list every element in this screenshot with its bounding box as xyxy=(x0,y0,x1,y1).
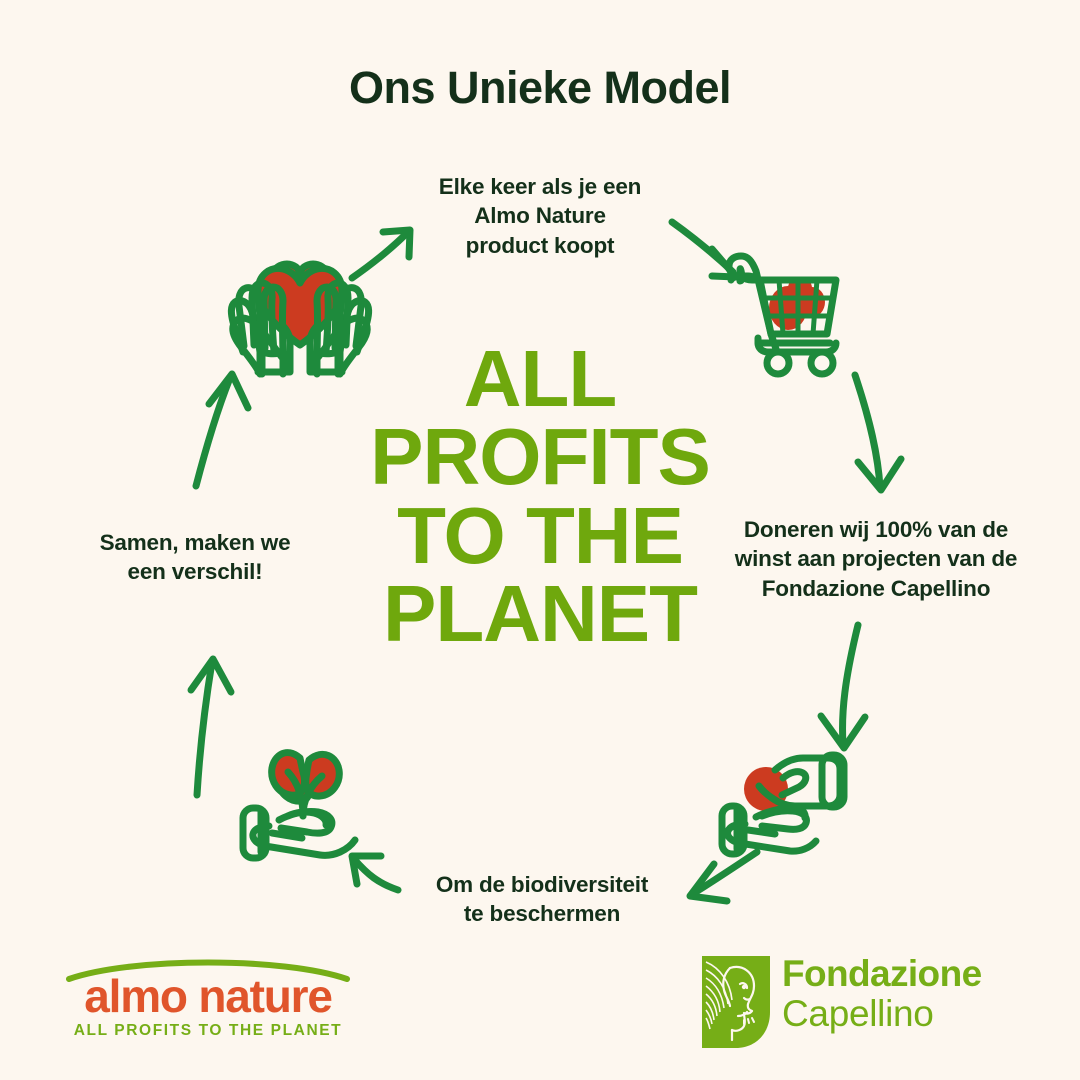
step-label-donate-line2: winst aan projecten van de xyxy=(718,544,1034,573)
step-label-purchase-line3: product koopt xyxy=(390,231,690,260)
step-label-donate: Doneren wij 100% van de winst aan projec… xyxy=(718,515,1034,603)
step-label-together: Samen, maken we een verschil! xyxy=(60,528,330,587)
capellino-line: Capellino xyxy=(782,994,982,1034)
center-line-1: ALL xyxy=(330,340,750,418)
fondazione-capellino-logo: Fondazione Capellino xyxy=(700,952,1020,1052)
step-label-donate-line3: Fondazione Capellino xyxy=(718,574,1034,603)
fondazione-line: Fondazione xyxy=(782,954,982,994)
center-headline: ALL PROFITS TO THE PLANET xyxy=(330,340,750,654)
step-label-together-line1: Samen, maken we xyxy=(60,528,330,557)
step-label-biodiversity-line2: te beschermen xyxy=(398,899,686,928)
infographic-canvas: Ons Unieke Model .arrow { fill: none; st… xyxy=(0,0,1080,1080)
step-label-biodiversity-line1: Om de biodiversiteit xyxy=(398,870,686,899)
fondazione-shield-icon xyxy=(700,954,772,1050)
step-label-donate-line1: Doneren wij 100% van de xyxy=(718,515,1034,544)
almo-nature-tagline: ALL PROFITS TO THE PLANET xyxy=(63,1023,353,1039)
step-label-biodiversity: Om de biodiversiteit te beschermen xyxy=(398,870,686,929)
step-label-purchase-line2: Almo Nature xyxy=(390,201,690,230)
hand-with-sprout-icon xyxy=(243,753,355,858)
step-label-purchase: Elke keer als je een Almo Nature product… xyxy=(390,172,690,260)
center-line-2: PROFITS xyxy=(330,418,750,496)
hand-giving-coin-icon xyxy=(722,755,844,854)
center-line-3: TO THE xyxy=(330,497,750,575)
center-line-4: PLANET xyxy=(330,575,750,653)
almo-nature-logo: almo nature ALL PROFITS TO THE PLANET xyxy=(63,955,353,1050)
step-label-together-line2: een verschil! xyxy=(60,557,330,586)
fondazione-capellino-wordmark: Fondazione Capellino xyxy=(782,954,982,1034)
almo-nature-wordmark: almo nature xyxy=(63,973,353,1019)
step-label-purchase-line1: Elke keer als je een xyxy=(390,172,690,201)
